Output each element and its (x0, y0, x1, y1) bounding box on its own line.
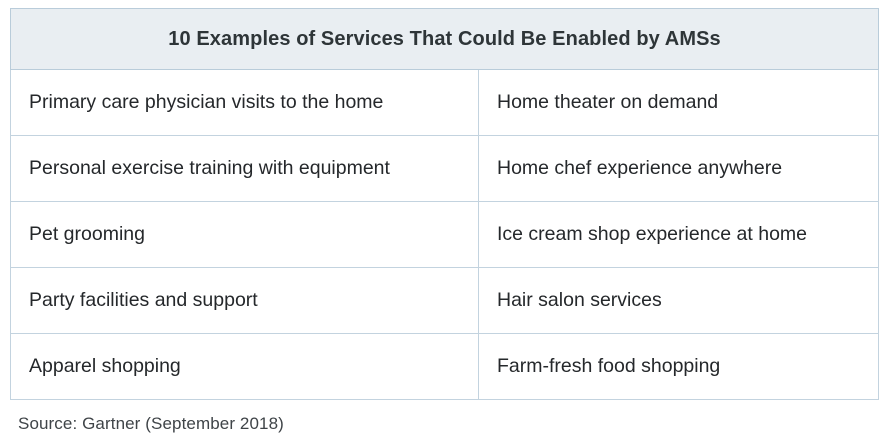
services-figure: 10 Examples of Services That Could Be En… (0, 0, 892, 430)
service-item-right: Farm-fresh food shopping (479, 334, 879, 400)
table-row: Apparel shopping Farm-fresh food shoppin… (11, 334, 879, 400)
service-item-right: Home theater on demand (479, 70, 879, 136)
table-body: Primary care physician visits to the hom… (11, 70, 879, 400)
service-item-left: Party facilities and support (11, 268, 479, 334)
table-row: Pet grooming Ice cream shop experience a… (11, 202, 879, 268)
service-item-right: Ice cream shop experience at home (479, 202, 879, 268)
service-item-right: Home chef experience anywhere (479, 136, 879, 202)
service-item-left: Apparel shopping (11, 334, 479, 400)
table-header-row: 10 Examples of Services That Could Be En… (11, 9, 879, 70)
table-row: Party facilities and support Hair salon … (11, 268, 879, 334)
table-head: 10 Examples of Services That Could Be En… (11, 9, 879, 70)
table-title: 10 Examples of Services That Could Be En… (11, 9, 879, 70)
table-row: Primary care physician visits to the hom… (11, 70, 879, 136)
services-table: 10 Examples of Services That Could Be En… (10, 8, 879, 400)
service-item-right: Hair salon services (479, 268, 879, 334)
service-item-left: Pet grooming (11, 202, 479, 268)
service-item-left: Primary care physician visits to the hom… (11, 70, 479, 136)
table-row: Personal exercise training with equipmen… (11, 136, 879, 202)
service-item-left: Personal exercise training with equipmen… (11, 136, 479, 202)
source-note: Source: Gartner (September 2018) (18, 414, 878, 434)
